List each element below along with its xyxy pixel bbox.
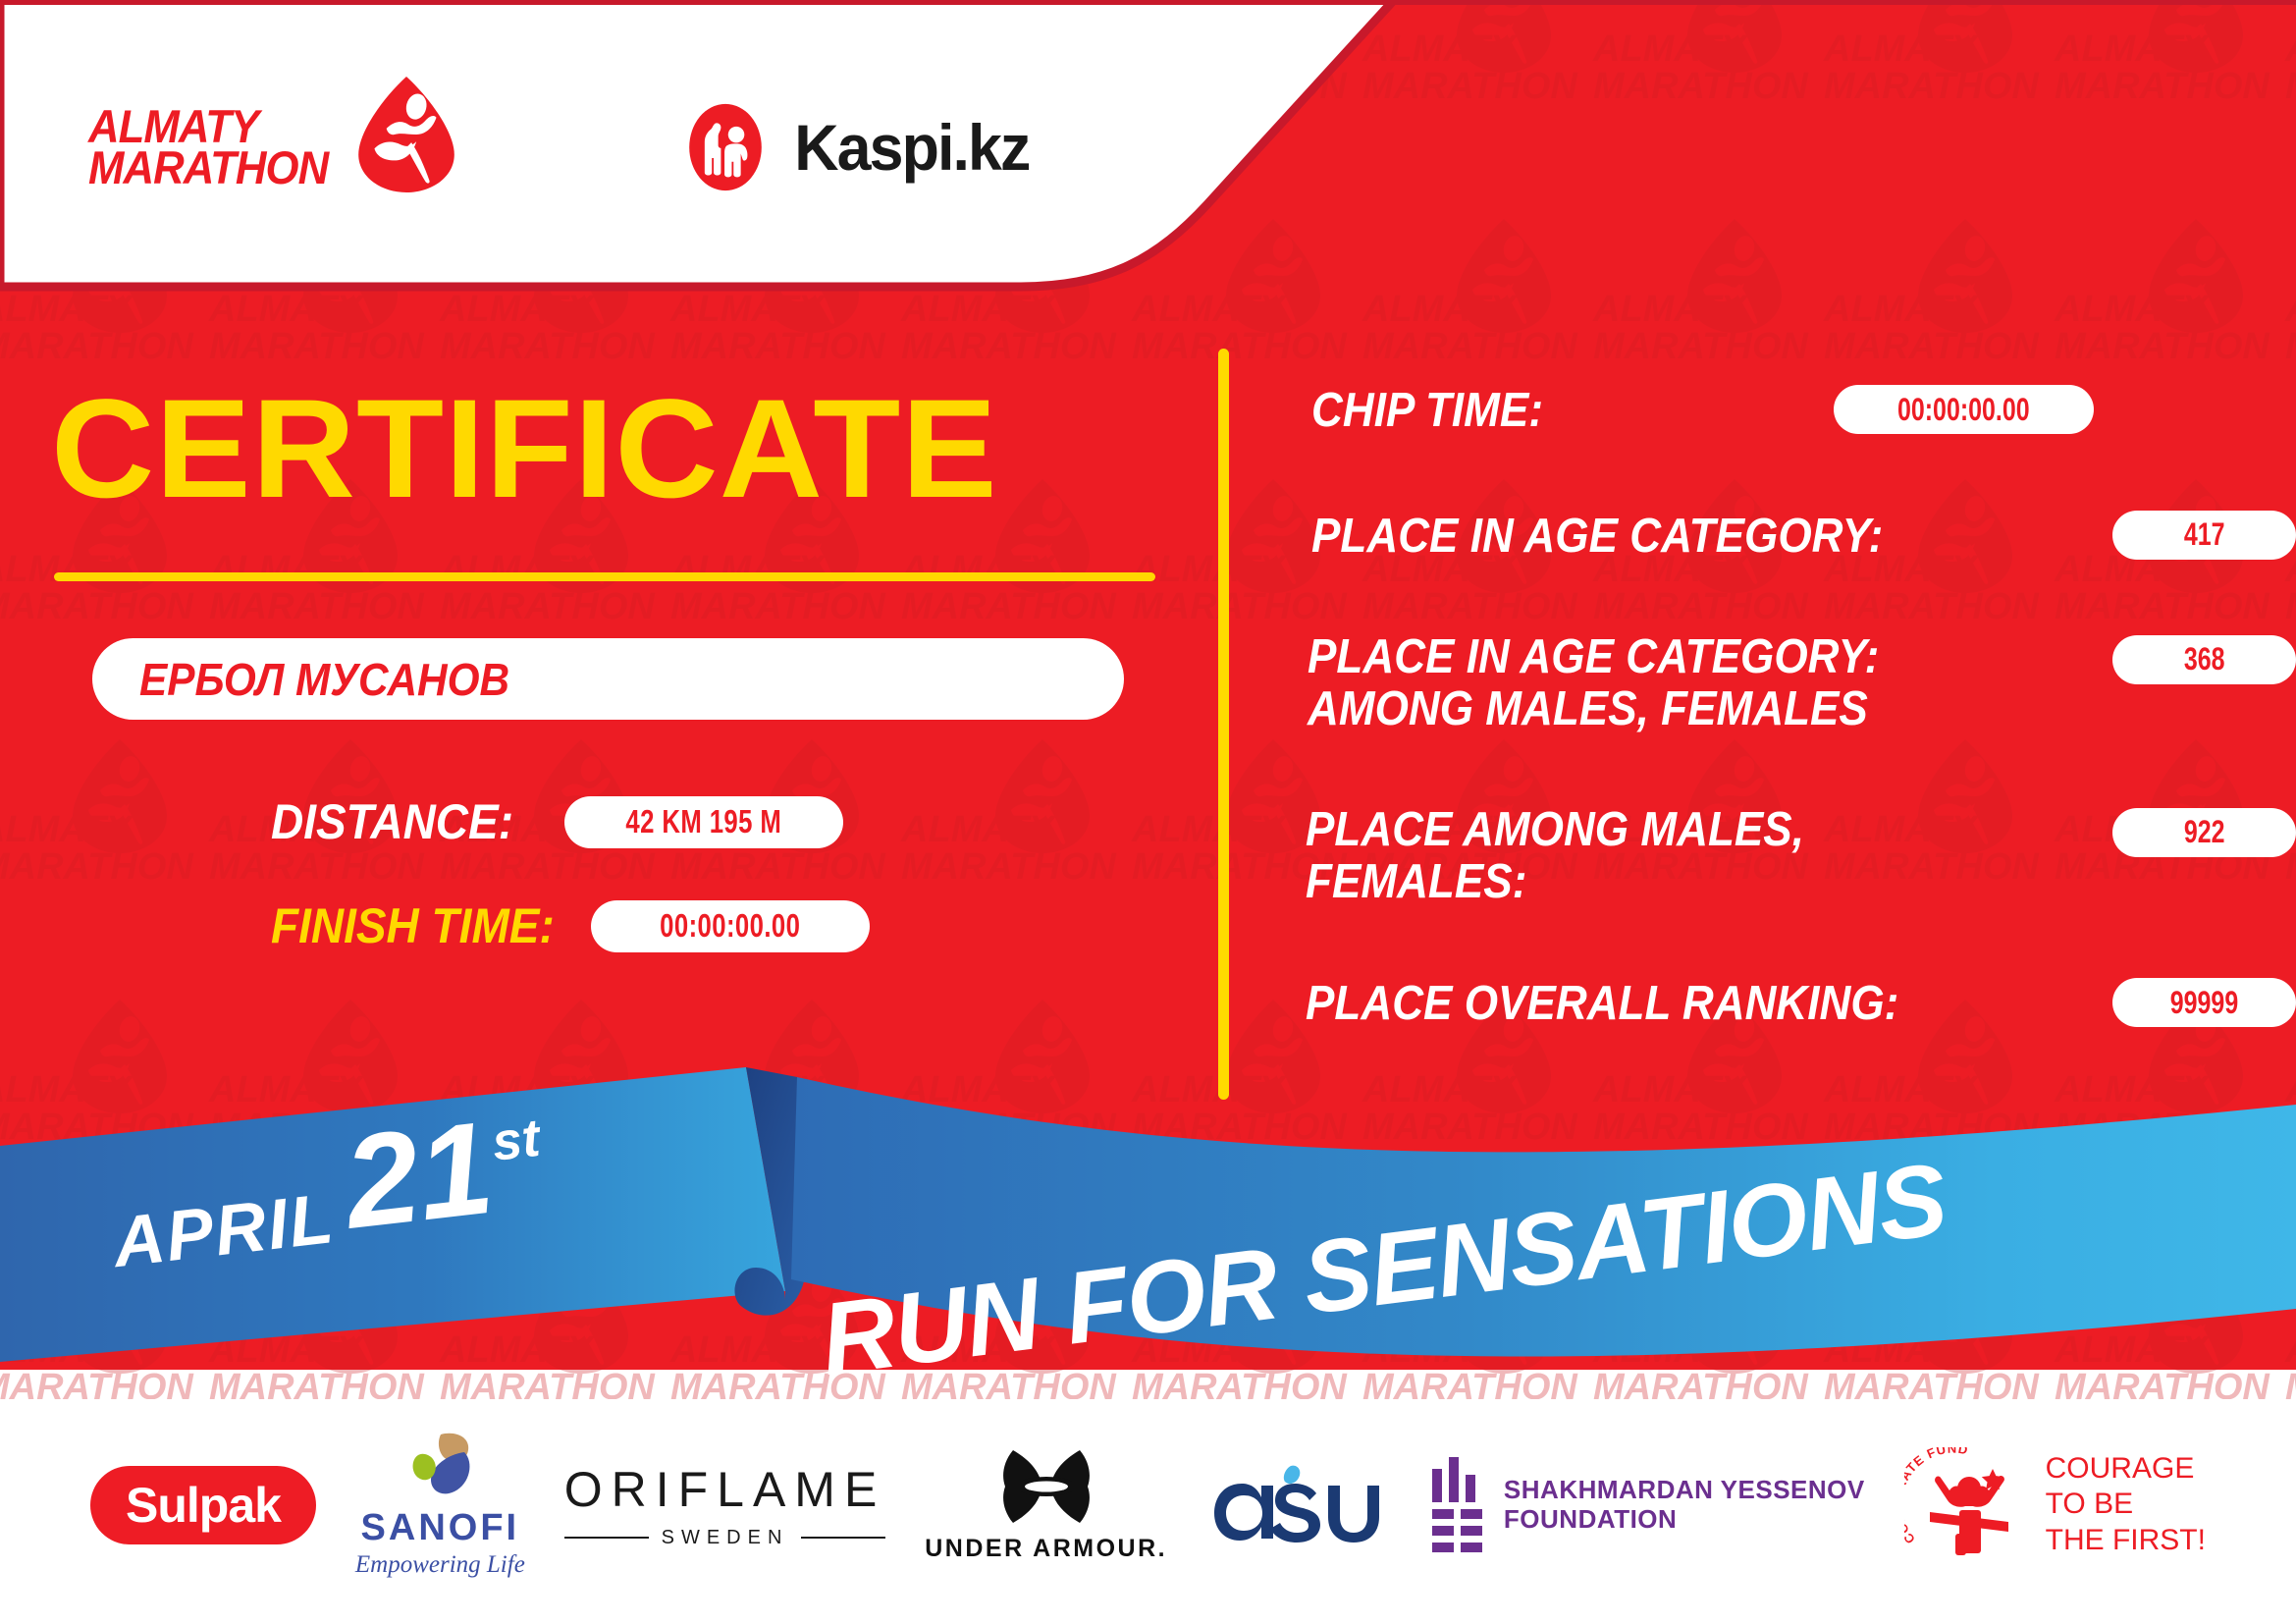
brand-row: ALMATY MARATHON Kaspi.kz [0, 0, 1531, 295]
place-age-category-gender-label: PLACE IN AGE CATEGORY: AMONG MALES, FEMA… [1308, 631, 2014, 735]
place-overall-value-pill: 99999 [2112, 978, 2296, 1027]
result-row: PLACE IN AGE CATEGORY: AMONG MALES, FEMA… [1276, 631, 2296, 735]
chip-time-value-pill: 00:00:00.00 [1834, 385, 2094, 434]
place-age-category-label: PLACE IN AGE CATEGORY: [1311, 511, 2014, 563]
kaspi-logo: Kaspi.kz [680, 102, 1036, 192]
kaspi-wordmark: Kaspi.kz [794, 110, 1029, 185]
left-column: CERTIFICATE ЕРБОЛ МУСАНОВ DISTANCE: 42 K… [0, 295, 1207, 954]
sanofi-tagline: Empowering Life [355, 1551, 525, 1579]
yessenov-wordmark: SHAKHMARDAN YESSENOV FOUNDATION [1504, 1476, 1865, 1535]
sponsor-sulpak: Sulpak [90, 1466, 316, 1544]
participant-name-field: ЕРБОЛ МУСАНОВ [92, 638, 1124, 720]
sanofi-wordmark: SANOFI [361, 1507, 520, 1549]
asu-logo-icon [1206, 1462, 1393, 1548]
chip-time-label: CHIP TIME: [1311, 385, 1543, 437]
yessenov-bar [1466, 1475, 1475, 1502]
sponsor-yessenov-foundation: SHAKHMARDAN YESSENOV FOUNDATION [1432, 1457, 1865, 1552]
courage-line1: COURAGE [2046, 1451, 2206, 1488]
finish-time-row: FINISH TIME: 00:00:00.00 [271, 897, 1207, 954]
yessenov-line1: SHAKHMARDAN YESSENOV [1504, 1476, 1865, 1505]
courage-line3: THE FIRST! [2046, 1523, 2206, 1559]
yessenov-bar [1432, 1543, 1454, 1552]
sponsor-bar: Sulpak SANOFI Empowering Life ORIFLAME S… [0, 1399, 2296, 1624]
finish-time-value: 00:00:00.00 [660, 907, 800, 945]
yessenov-bar [1461, 1509, 1482, 1519]
place-overall-label: PLACE OVERALL RANKING: [1306, 978, 2017, 1030]
oriflame-sub: SWEDEN [564, 1527, 886, 1549]
courage-fund-icon: CORPORATE FUND [1904, 1447, 2034, 1563]
yessenov-grid-row [1432, 1543, 1482, 1552]
distance-value-pill: 42 KM 195 M [564, 796, 843, 848]
oriflame-rule-right [801, 1537, 885, 1539]
vertical-divider [1218, 349, 1229, 1100]
yessenov-line2: FOUNDATION [1504, 1505, 1865, 1535]
sponsor-sanofi: SANOFI Empowering Life [355, 1431, 525, 1579]
sponsor-under-armour: UNDER ARMOUR. [925, 1446, 1167, 1563]
result-row: CHIP TIME: 00:00:00.00 [1276, 385, 2296, 437]
yessenov-bar [1449, 1457, 1459, 1502]
oriflame-sweden-word: SWEDEN [662, 1527, 789, 1549]
marathon-word: MARATHON [88, 147, 328, 189]
finish-time-label: FINISH TIME: [271, 897, 555, 954]
place-overall-value: 99999 [2170, 985, 2238, 1021]
runner-drop-icon [356, 75, 456, 194]
event-day-suffix: st [489, 1108, 543, 1173]
almaty-marathon-logo: ALMATY MARATHON [88, 100, 456, 194]
place-age-category-value: 417 [2184, 516, 2225, 553]
sponsor-asu [1206, 1462, 1393, 1548]
courage-line2: TO BE [2046, 1487, 2206, 1523]
kaspi-people-icon [680, 102, 771, 192]
sponsor-courage-fund: CORPORATE FUND COURAGE TO BE THE FIRST! [1904, 1447, 2206, 1563]
oriflame-rule-left [564, 1537, 649, 1539]
participant-name-value: ЕРБОЛ МУСАНОВ [139, 653, 509, 706]
yessenov-grid-row [1432, 1509, 1482, 1519]
almaty-marathon-wordmark: ALMATY MARATHON [88, 106, 347, 189]
oriflame-wordmark: ORIFLAME [564, 1461, 886, 1518]
under-armour-wordmark: UNDER ARMOUR. [925, 1535, 1167, 1563]
event-day: 21 [339, 1108, 498, 1244]
place-age-category-value-pill: 417 [2112, 511, 2296, 560]
distance-label: DISTANCE: [271, 793, 513, 850]
title-divider [54, 572, 1155, 581]
yessenov-bar [1461, 1526, 1482, 1536]
result-row: PLACE AMONG MALES, FEMALES: 922 [1276, 804, 2296, 908]
place-among-gender-value: 922 [2184, 814, 2225, 850]
top-red-rule [0, 0, 2296, 5]
distance-value: 42 KM 195 M [625, 803, 781, 840]
yessenov-grid-row [1432, 1457, 1482, 1502]
results-column: CHIP TIME: 00:00:00.00 PLACE IN AGE CATE… [1276, 295, 2296, 1030]
finish-time-value-pill: 00:00:00.00 [591, 900, 870, 952]
sulpak-wordmark: Sulpak [126, 1478, 281, 1533]
distance-row: DISTANCE: 42 KM 195 M [271, 793, 1207, 850]
yessenov-grid-icon [1432, 1457, 1482, 1552]
chip-time-value: 00:00:00.00 [1897, 392, 2030, 428]
under-armour-icon [984, 1446, 1109, 1527]
place-age-category-gender-value-pill: 368 [2112, 635, 2296, 684]
yessenov-grid-row [1432, 1526, 1482, 1536]
yessenov-bar [1432, 1469, 1442, 1502]
sponsor-oriflame: ORIFLAME SWEDEN [564, 1461, 886, 1549]
result-row: PLACE OVERALL RANKING: 99999 [1276, 978, 2296, 1030]
page-title: CERTIFICATE [51, 379, 1231, 519]
place-among-gender-value-pill: 922 [2112, 808, 2296, 857]
place-among-gender-label: PLACE AMONG MALES, FEMALES: [1306, 804, 2014, 908]
result-row: PLACE IN AGE CATEGORY: 417 [1276, 511, 2296, 563]
place-age-category-gender-value: 368 [2184, 641, 2225, 677]
sulpak-logo: Sulpak [90, 1466, 316, 1544]
sanofi-mark-icon [396, 1431, 484, 1503]
yessenov-bar [1461, 1543, 1482, 1552]
yessenov-bar [1432, 1526, 1454, 1536]
courage-wordmark: COURAGE TO BE THE FIRST! [2046, 1451, 2206, 1559]
yessenov-bar [1432, 1509, 1454, 1519]
certificate-canvas: ALMATY MARATHON Kaspi.kz CERTIFICATE [0, 0, 2296, 1624]
